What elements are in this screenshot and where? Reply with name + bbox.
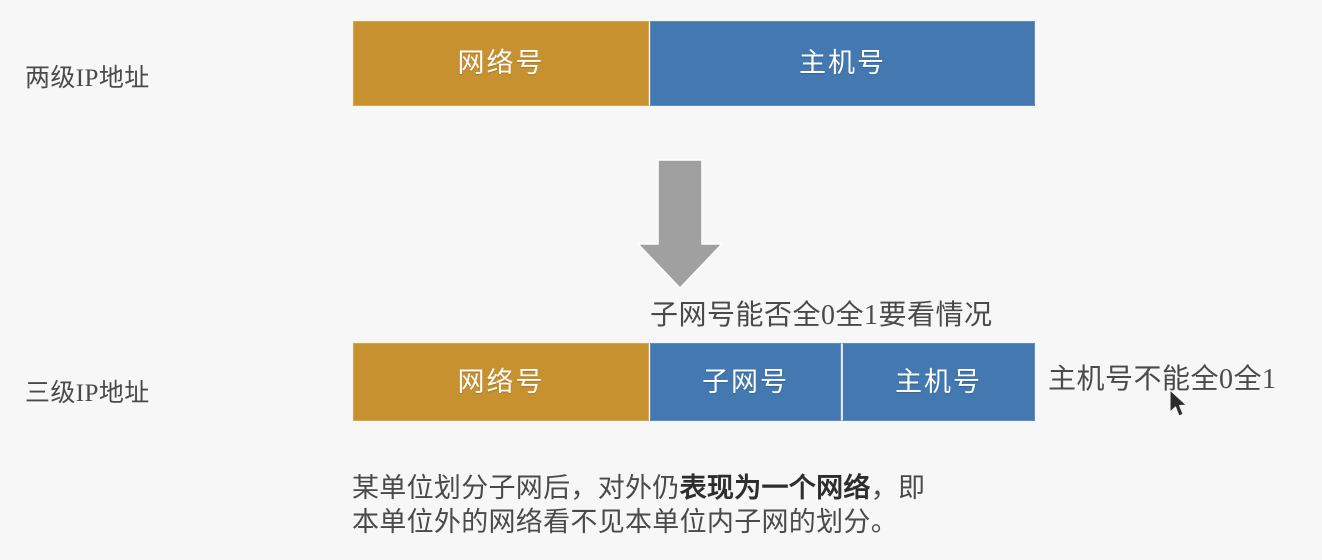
arrow-down-icon (636, 158, 724, 290)
paragraph-line-1: 某单位划分子网后，对外仍表现为一个网络，即 (352, 471, 925, 505)
field-box-network-three-level: 网络号 (353, 343, 649, 421)
paragraph-line-2: 本单位外的网络看不见本单位内子网的划分。 (352, 505, 925, 539)
row-label-two-level: 两级IP地址 (25, 66, 150, 91)
field-label-subnet-three-level: 子网号 (702, 369, 789, 396)
field-label-network-three-level: 网络号 (458, 369, 545, 396)
explanatory-paragraph: 某单位划分子网后，对外仍表现为一个网络，即 本单位外的网络看不见本单位内子网的划… (352, 471, 925, 539)
field-box-network-two-level: 网络号 (353, 21, 649, 106)
paragraph-line-1-before: 某单位划分子网后，对外仍 (352, 473, 680, 503)
row-label-three-level: 三级IP地址 (25, 381, 150, 406)
arrow-down-glyph (636, 158, 724, 290)
annotation-subnet-note: 子网号能否全0全1要看情况 (650, 302, 993, 330)
field-label-network-two-level: 网络号 (458, 50, 545, 77)
paragraph-line-1-emphasis: 表现为一个网络 (680, 473, 871, 503)
field-label-host-two-level: 主机号 (799, 50, 886, 77)
paragraph-line-1-after: ，即 (871, 473, 926, 503)
field-box-subnet-three-level: 子网号 (650, 343, 841, 421)
field-box-host-three-level: 主机号 (841, 343, 1035, 421)
annotation-host-note: 主机号不能全0全1 (1048, 366, 1277, 394)
diagram-canvas: 两级IP地址 网络号 主机号 子网号能否全0全1要看情况 三级IP地址 网络号 … (0, 0, 1322, 560)
mouse-pointer-glyph (1168, 389, 1192, 421)
field-label-host-three-level: 主机号 (895, 369, 982, 396)
mouse-pointer-icon (1168, 389, 1192, 421)
field-box-host-two-level: 主机号 (650, 21, 1035, 106)
